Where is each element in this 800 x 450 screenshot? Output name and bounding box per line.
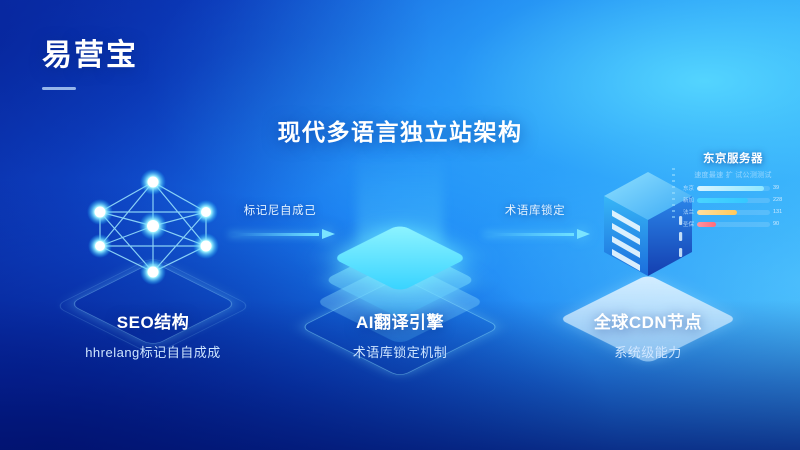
network-nodes-svg [78,160,228,290]
node-title: 全球CDN节点 [553,308,743,333]
panel-connector-dots [672,168,675,222]
diagram-node-seo[interactable]: SEO结构 hhrelang标记自自成成 [58,160,248,280]
stat-fill [697,210,737,215]
node-subtitle: 系统级能力 [553,342,743,361]
stat-label: 新加 [678,196,694,204]
stat-label: 东京 [678,184,694,192]
brand-underline-divider [42,87,76,90]
server-panel-subtitle: 速度最速 扩 试公测测试 [678,170,788,180]
stat-track [697,186,770,191]
server-stat-row: 东京 39 [678,184,788,192]
node-title: SEO结构 [58,308,248,333]
stat-track [697,210,770,215]
stat-label: 法兰 [678,208,694,216]
stat-track [697,198,770,203]
stat-fill [697,186,764,191]
node-subtitle: hhrelang标记自自成成 [58,342,248,361]
page-title: 现代多语言独立站架构 [0,113,800,147]
brand-title: 易营宝 [42,30,138,74]
server-stats-panel: 东京服务器 速度最速 扩 试公测测试 东京 39 新加 228 法兰 [678,150,788,228]
diagram-node-ai-translate[interactable]: AI翻译引擎 术语库锁定机制 [305,160,495,280]
stacked-layers-icon [305,160,495,280]
node-subtitle: 术语库锁定机制 [305,342,495,361]
slide-canvas: 易营宝 现代多语言独立站架构 [0,0,800,450]
stat-label: 圣保 [678,220,694,228]
server-stat-row: 新加 228 [678,196,788,204]
network-graph-icon [58,160,248,280]
stat-value: 131 [773,209,788,215]
stat-fill [697,198,748,203]
architecture-diagram: SEO结构 hhrelang标记自自成成 标记尼自成己 AI翻译引擎 术语库锁定… [0,150,800,370]
stat-value: 228 [773,197,788,203]
server-stat-row: 法兰 131 [678,208,788,216]
brand-block: 易营宝 [42,30,138,90]
server-panel-title: 东京服务器 [678,150,788,166]
node-label-seo: SEO结构 hhrelang标记自自成成 [58,308,248,361]
node-label-cdn: 全球CDN节点 系统级能力 [553,308,743,361]
stat-value: 39 [773,185,788,191]
node-label-ai-translate: AI翻译引擎 术语库锁定机制 [305,308,495,361]
stat-track [697,222,770,227]
node-title: AI翻译引擎 [305,308,495,333]
server-stat-row: 圣保 90 [678,220,788,228]
stat-fill [697,222,716,227]
stat-value: 90 [773,221,788,227]
